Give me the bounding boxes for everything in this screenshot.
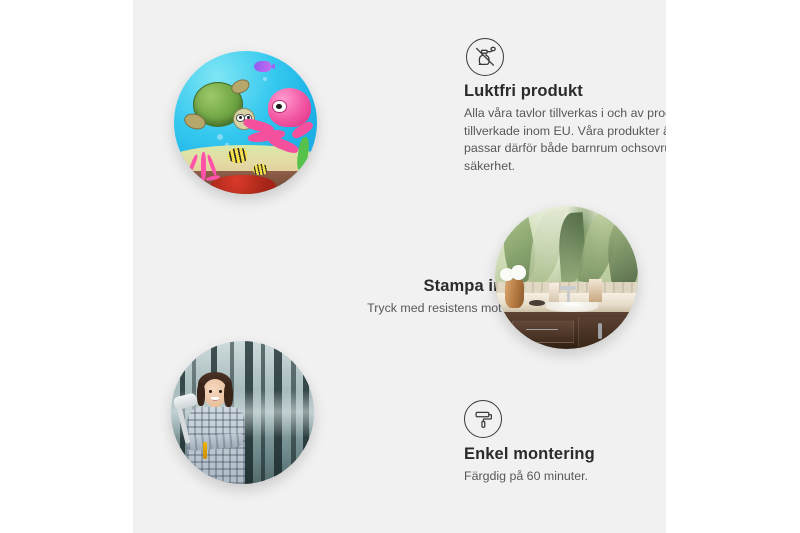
vanity-cabinet <box>495 312 638 349</box>
purple-fish-icon <box>254 61 271 72</box>
feature-easy-installation: Enkel montering Färgdig på 60 minuter. <box>464 400 666 486</box>
person-figure <box>180 372 269 484</box>
medallion-underwater-kids-mural <box>174 51 317 194</box>
paint-roller-icon <box>464 400 502 438</box>
bathroom-photo <box>495 206 638 349</box>
feature-title: Enkel montering <box>464 445 666 464</box>
no-fragrance-icon <box>466 38 504 76</box>
yellow-fish-small-icon <box>253 164 267 175</box>
medallion-bathroom-botanical-wallpaper <box>495 206 638 349</box>
medallion-woman-with-paint-roller <box>171 341 314 484</box>
feature-description: Färgdig på 60 minuter. <box>464 468 666 486</box>
flowers-icon <box>499 265 529 284</box>
feature-odourless: Luktfri produkt Alla våra tavlor tillver… <box>464 38 666 175</box>
feature-panel: Luktfri produkt Alla våra tavlor tillver… <box>133 0 666 533</box>
icon-row <box>464 38 666 76</box>
icon-row <box>464 400 666 438</box>
painter-photo <box>171 341 314 484</box>
coral-icon <box>185 144 222 181</box>
yellow-fish-icon <box>228 148 247 162</box>
feature-description: Alla våra tavlor tillverkas i och av pro… <box>464 105 666 175</box>
octopus-icon <box>268 88 311 127</box>
underwater-illustration <box>174 51 317 194</box>
promo-canvas: Luktfri produkt Alla våra tavlor tillver… <box>0 0 800 533</box>
feature-title: Luktfri produkt <box>464 82 666 101</box>
